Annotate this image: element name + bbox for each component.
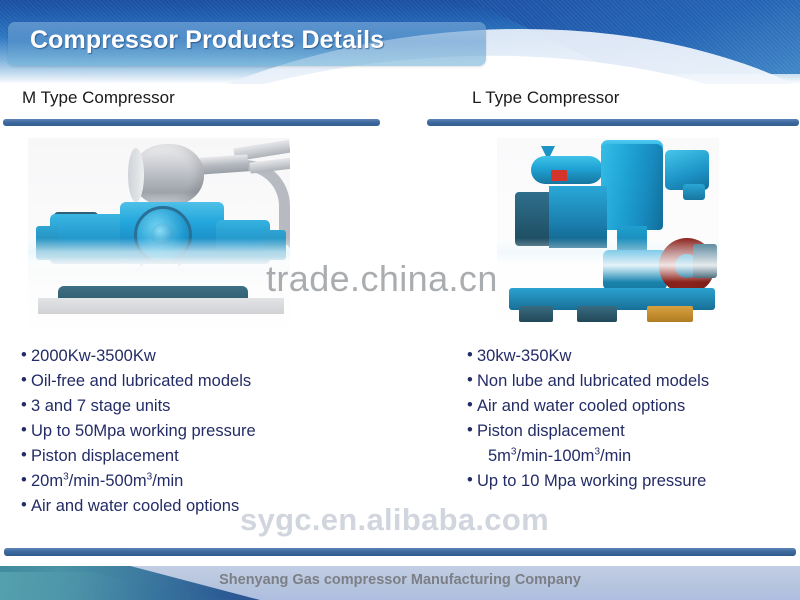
bullet-icon: •	[21, 393, 27, 418]
list-item-label: Piston displacement	[477, 422, 625, 440]
column-heading-m-type: M Type Compressor	[22, 88, 175, 108]
list-item-label: Non lube and lubricated models	[477, 372, 709, 390]
bullet-icon: •	[21, 368, 27, 393]
list-item: •Oil-free and lubricated models	[20, 369, 256, 394]
page-title: Compressor Products Details	[30, 26, 384, 55]
bullet-icon: •	[467, 468, 473, 493]
product-photo-m-type	[28, 138, 290, 336]
bullet-icon: •	[21, 493, 27, 518]
bullet-icon: •	[21, 468, 27, 493]
list-item-label: 30kw-350Kw	[477, 347, 571, 365]
column-rule-left	[3, 119, 380, 126]
vessel-outlet-icon	[199, 154, 248, 174]
list-item: •30kw-350Kw	[466, 344, 709, 369]
photo-left-haze-inner	[28, 258, 290, 282]
column-rule-right	[427, 119, 799, 126]
product-photo-l-type	[497, 138, 719, 336]
list-item-label: 3 and 7 stage units	[31, 397, 170, 415]
base-foot-b-icon	[577, 306, 617, 322]
list-item-label: 2000Kw-3500Kw	[31, 347, 156, 365]
list-item: •3 and 7 stage units	[20, 394, 256, 419]
list-item-label: Oil-free and lubricated models	[31, 372, 251, 390]
bullet-icon: •	[21, 418, 27, 443]
side-housing-small-icon	[683, 184, 705, 200]
bullet-icon: •	[467, 393, 473, 418]
list-item-label: Air and water cooled options	[31, 497, 239, 515]
list-item-label: Air and water cooled options	[477, 397, 685, 415]
footer-divider-rule	[4, 548, 796, 556]
list-item: •Up to 50Mpa working pressure	[20, 419, 256, 444]
list-item-label: 20m3/min-500m3/min	[31, 472, 183, 490]
list-item-continuation: 5m3/min-100m3/min	[466, 444, 709, 469]
horizontal-drum-icon	[531, 156, 603, 184]
feature-list-m-type: •2000Kw-3500Kw •Oil-free and lubricated …	[20, 344, 256, 519]
list-item-label: 5m3/min-100m3/min	[488, 447, 631, 465]
list-item-label: Piston displacement	[31, 447, 179, 465]
red-label-icon	[551, 170, 567, 181]
photo-right-haze	[497, 238, 719, 282]
bullet-icon: •	[467, 343, 473, 368]
vertical-cylinder-icon	[601, 144, 663, 230]
bullet-icon: •	[467, 418, 473, 443]
base-foot-c-icon	[647, 306, 693, 322]
footer-company-name: Shenyang Gas compressor Manufacturing Co…	[0, 572, 800, 588]
watermark-trade-china: trade.china.cn	[266, 258, 498, 300]
list-item: •Air and water cooled options	[20, 494, 256, 519]
list-item: •Up to 10 Mpa working pressure	[466, 469, 709, 494]
bullet-icon: •	[21, 343, 27, 368]
list-item: •Non lube and lubricated models	[466, 369, 709, 394]
bullet-icon: •	[21, 443, 27, 468]
list-item: •2000Kw-3500Kw	[20, 344, 256, 369]
feature-list-l-type: •30kw-350Kw •Non lube and lubricated mod…	[466, 344, 709, 494]
base-foot-a-icon	[519, 306, 553, 322]
list-item: •Piston displacement	[466, 419, 709, 444]
list-item: •Piston displacement	[20, 444, 256, 469]
list-item: •20m3/min-500m3/min	[20, 469, 256, 494]
list-item-label: Up to 50Mpa working pressure	[31, 422, 256, 440]
watermark-sygc-alibaba: sygc.en.alibaba.com	[240, 502, 549, 538]
list-item-label: Up to 10 Mpa working pressure	[477, 472, 706, 490]
bullet-icon: •	[467, 368, 473, 393]
slide-canvas: Compressor Products Details M Type Compr…	[0, 0, 800, 600]
list-item: •Air and water cooled options	[466, 394, 709, 419]
vessel-end-cap-icon	[128, 148, 144, 202]
column-heading-l-type: L Type Compressor	[472, 88, 619, 108]
foundation-rail-icon	[38, 298, 284, 314]
